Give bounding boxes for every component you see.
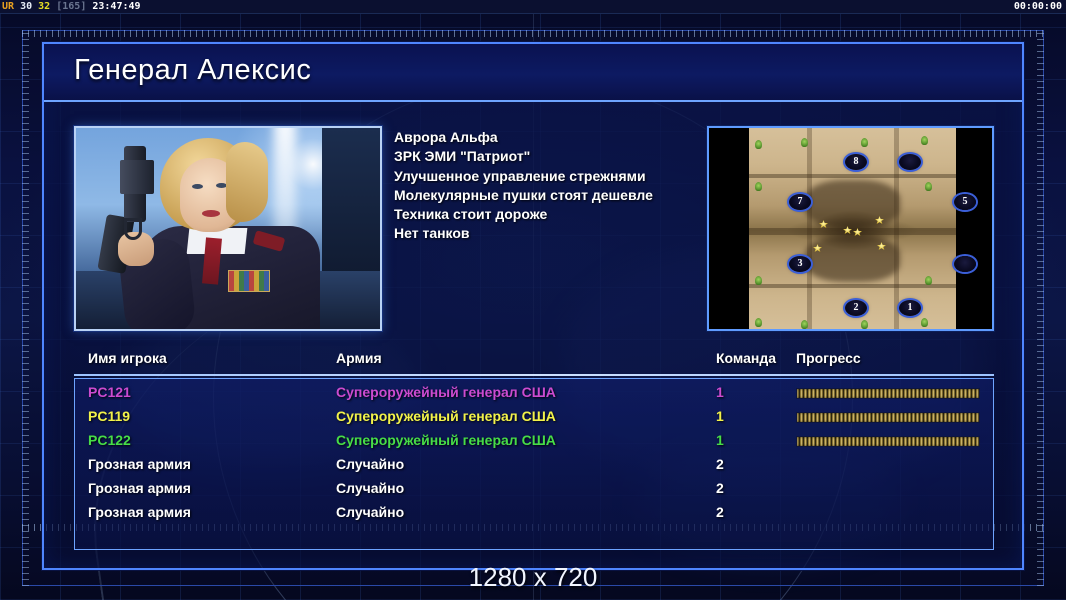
minimap-start-position[interactable]: 1 bbox=[899, 300, 921, 316]
player-progress-bar bbox=[796, 388, 980, 399]
table-row[interactable]: Грозная армияСлучайно2 bbox=[75, 453, 993, 477]
player-army: Супероружейный генерал США bbox=[336, 432, 556, 448]
progress-fill bbox=[796, 436, 980, 447]
header-divider bbox=[74, 374, 994, 376]
minimap-tree-icon bbox=[861, 320, 868, 329]
player-team: 1 bbox=[716, 432, 724, 448]
player-team: 1 bbox=[716, 384, 724, 400]
resolution-label: 1280 x 720 bbox=[0, 562, 1066, 593]
frame-ruler-right bbox=[1037, 30, 1044, 586]
minimap-terrain-band bbox=[749, 284, 956, 288]
minimap-tree-icon bbox=[801, 320, 808, 329]
player-team: 1 bbox=[716, 408, 724, 424]
minimap-tree-icon bbox=[755, 276, 762, 285]
status-left-group: UR 30 32 [165] 23:47:49 bbox=[2, 0, 141, 14]
player-name: Грозная армия bbox=[88, 504, 191, 520]
description-line: ЗРК ЭМИ "Патриот" bbox=[394, 147, 742, 166]
column-header-team: Команда bbox=[716, 350, 776, 366]
page-title: Генерал Алексис bbox=[74, 54, 311, 87]
status-clock: 23:47:49 bbox=[92, 1, 140, 12]
os-status-bar: UR 30 32 [165] 23:47:49 00:00:00 bbox=[0, 0, 1066, 14]
status-timer: 00:00:00 bbox=[1014, 0, 1062, 14]
description-line: Нет танков bbox=[394, 224, 742, 243]
minimap-tree-icon bbox=[755, 182, 762, 191]
player-progress-bar bbox=[796, 412, 980, 423]
description-line: Улучшенное управление стрежнями bbox=[394, 167, 742, 186]
player-name: PC119 bbox=[88, 408, 130, 424]
status-ur-label: UR bbox=[2, 1, 14, 12]
minimap-preview[interactable]: 875321 bbox=[707, 126, 994, 331]
player-name: PC121 bbox=[88, 384, 131, 400]
player-name: Грозная армия bbox=[88, 480, 191, 496]
player-army: Случайно bbox=[336, 456, 404, 472]
player-army: Случайно bbox=[336, 480, 404, 496]
minimap-terrain-column bbox=[807, 128, 812, 331]
pistol-trigger-icon bbox=[124, 218, 142, 240]
player-name: Грозная армия bbox=[88, 456, 191, 472]
description-line: Техника стоит дороже bbox=[394, 205, 742, 224]
player-army: Супероружейный генерал США bbox=[336, 408, 556, 424]
portrait-eye bbox=[192, 184, 203, 189]
pistol-slide-icon bbox=[120, 160, 154, 194]
status-value-1: 30 bbox=[20, 1, 32, 12]
table-row[interactable]: PC121Супероружейный генерал США1 bbox=[75, 381, 993, 405]
minimap-tree-icon bbox=[921, 136, 928, 145]
portrait-hair-front bbox=[226, 142, 268, 222]
minimap-start-position[interactable]: 8 bbox=[845, 154, 867, 170]
description-line: Аврора Альфа bbox=[394, 128, 742, 147]
game-background: Генерал Алексис bbox=[0, 14, 1066, 600]
player-progress-bar bbox=[796, 436, 980, 447]
column-header-progress: Прогресс bbox=[796, 350, 861, 366]
minimap-tree-icon bbox=[925, 182, 932, 191]
minimap-start-position[interactable]: 7 bbox=[789, 194, 811, 210]
portrait-medals bbox=[228, 270, 270, 292]
table-row[interactable]: PC119Супероружейный генерал США1 bbox=[75, 405, 993, 429]
minimap-start-position[interactable]: 5 bbox=[954, 194, 976, 210]
title-band: Генерал Алексис bbox=[44, 44, 1022, 102]
minimap-terrain-band bbox=[749, 228, 956, 235]
status-bracket-value: [165] bbox=[56, 1, 86, 12]
player-table-header: Имя игрока Армия Команда Прогресс bbox=[44, 350, 1022, 374]
column-header-army: Армия bbox=[336, 350, 382, 366]
player-team: 2 bbox=[716, 504, 724, 520]
minimap-terrain-band bbox=[749, 174, 956, 178]
player-army: Случайно bbox=[336, 504, 404, 520]
frame-ruler-left bbox=[22, 30, 29, 586]
table-row[interactable]: Грозная армияСлучайно2 bbox=[75, 477, 993, 501]
minimap-terrain-shadow bbox=[805, 236, 900, 282]
progress-fill bbox=[796, 388, 980, 399]
minimap-tree-icon bbox=[921, 318, 928, 327]
player-team: 2 bbox=[716, 456, 724, 472]
description-line: Молекулярные пушки стоят дешевле bbox=[394, 186, 742, 205]
frame-ruler-top bbox=[22, 30, 1044, 37]
general-description: Аврора Альфа ЗРК ЭМИ "Патриот" Улучшенно… bbox=[394, 128, 742, 244]
general-info-panel: Генерал Алексис bbox=[42, 42, 1024, 570]
minimap-tree-icon bbox=[755, 318, 762, 327]
status-value-2: 32 bbox=[38, 1, 50, 12]
minimap-tree-icon bbox=[755, 140, 762, 149]
player-name: PC122 bbox=[88, 432, 131, 448]
minimap-start-position[interactable]: 2 bbox=[845, 300, 867, 316]
table-row[interactable]: PC122Супероружейный генерал США1 bbox=[75, 429, 993, 453]
minimap-terrain-shadow bbox=[805, 180, 900, 228]
player-army: Супероружейный генерал США bbox=[336, 384, 556, 400]
minimap-start-position[interactable] bbox=[899, 154, 921, 170]
player-team: 2 bbox=[716, 480, 724, 496]
player-list: PC121Супероружейный генерал США1PC119Суп… bbox=[74, 378, 994, 550]
minimap-tree-icon bbox=[925, 276, 932, 285]
minimap-tree-icon bbox=[861, 138, 868, 147]
portrait-lips bbox=[202, 210, 220, 217]
minimap-tree-icon bbox=[801, 138, 808, 147]
minimap-start-position[interactable]: 3 bbox=[789, 256, 811, 272]
progress-fill bbox=[796, 412, 980, 423]
minimap-terrain: 875321 bbox=[749, 128, 956, 331]
minimap-start-position[interactable] bbox=[954, 256, 976, 272]
minimap-terrain-column bbox=[894, 128, 899, 331]
general-portrait bbox=[74, 126, 382, 331]
table-row[interactable]: Грозная армияСлучайно2 bbox=[75, 501, 993, 525]
column-header-player-name: Имя игрока bbox=[88, 350, 167, 366]
